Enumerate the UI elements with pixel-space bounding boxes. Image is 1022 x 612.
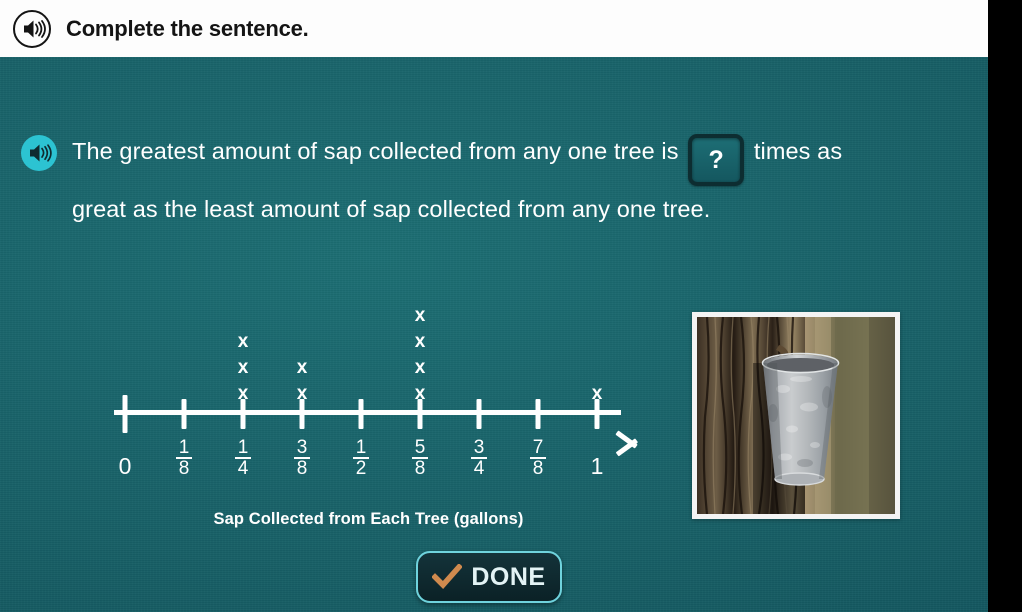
prompt-container: The greatest amount of sap collected fro… [20,128,920,232]
number-line-axis [114,410,621,415]
x-mark: x [297,355,308,381]
axis-tick [595,399,600,429]
axis-tick-label: 18 [155,438,213,480]
x-mark: x [238,355,249,381]
right-letterbox [988,0,1022,612]
prompt-text-before: The greatest amount of sap collected fro… [72,138,679,164]
line-plot: 0 18 x x x 14 [96,285,641,535]
axis-tick [536,399,541,429]
done-label: DONE [471,563,545,592]
axis-tick [182,399,187,429]
axis-tick-label: 34 [450,438,508,480]
page-title: Complete the sentence. [66,16,309,42]
axis-tick-label: 0 [96,453,154,480]
app-stage: Complete the sentence. The greatest amou… [0,0,1022,612]
chart-title: Sap Collected from Each Tree (gallons) [96,510,641,529]
activity-canvas: Complete the sentence. The greatest amou… [0,0,988,612]
axis-tick-label: 1 [568,453,626,480]
x-mark: x [415,329,426,355]
axis-tick [241,399,246,429]
prompt-sentence: The greatest amount of sap collected fro… [72,128,862,232]
prompt-speaker-audio-icon[interactable] [20,134,58,172]
x-mark: x [415,355,426,381]
axis-tick [477,399,482,429]
x-stack: x x x [214,329,272,407]
x-mark: x [238,329,249,355]
photo-frame [692,312,900,519]
axis-tick [418,399,423,429]
axis-tick-label: 12 [332,438,390,480]
x-stack: x x x x [391,303,449,407]
x-mark: x [415,303,426,329]
axis-tick-label: 14 [214,438,272,480]
sap-bucket-photo [697,317,895,514]
done-button[interactable]: DONE [416,551,562,603]
axis-tick [359,399,364,429]
axis-tick [300,399,305,429]
axis-tick-label: 58 [391,438,449,480]
speaker-audio-icon[interactable] [12,9,52,49]
answer-input-box[interactable]: ? [688,134,744,186]
checkmark-icon [432,564,462,590]
axis-tick-label: 78 [509,438,567,480]
header-bar: Complete the sentence. [0,0,988,57]
axis-tick-label: 38 [273,438,331,480]
axis-tick [123,395,128,433]
